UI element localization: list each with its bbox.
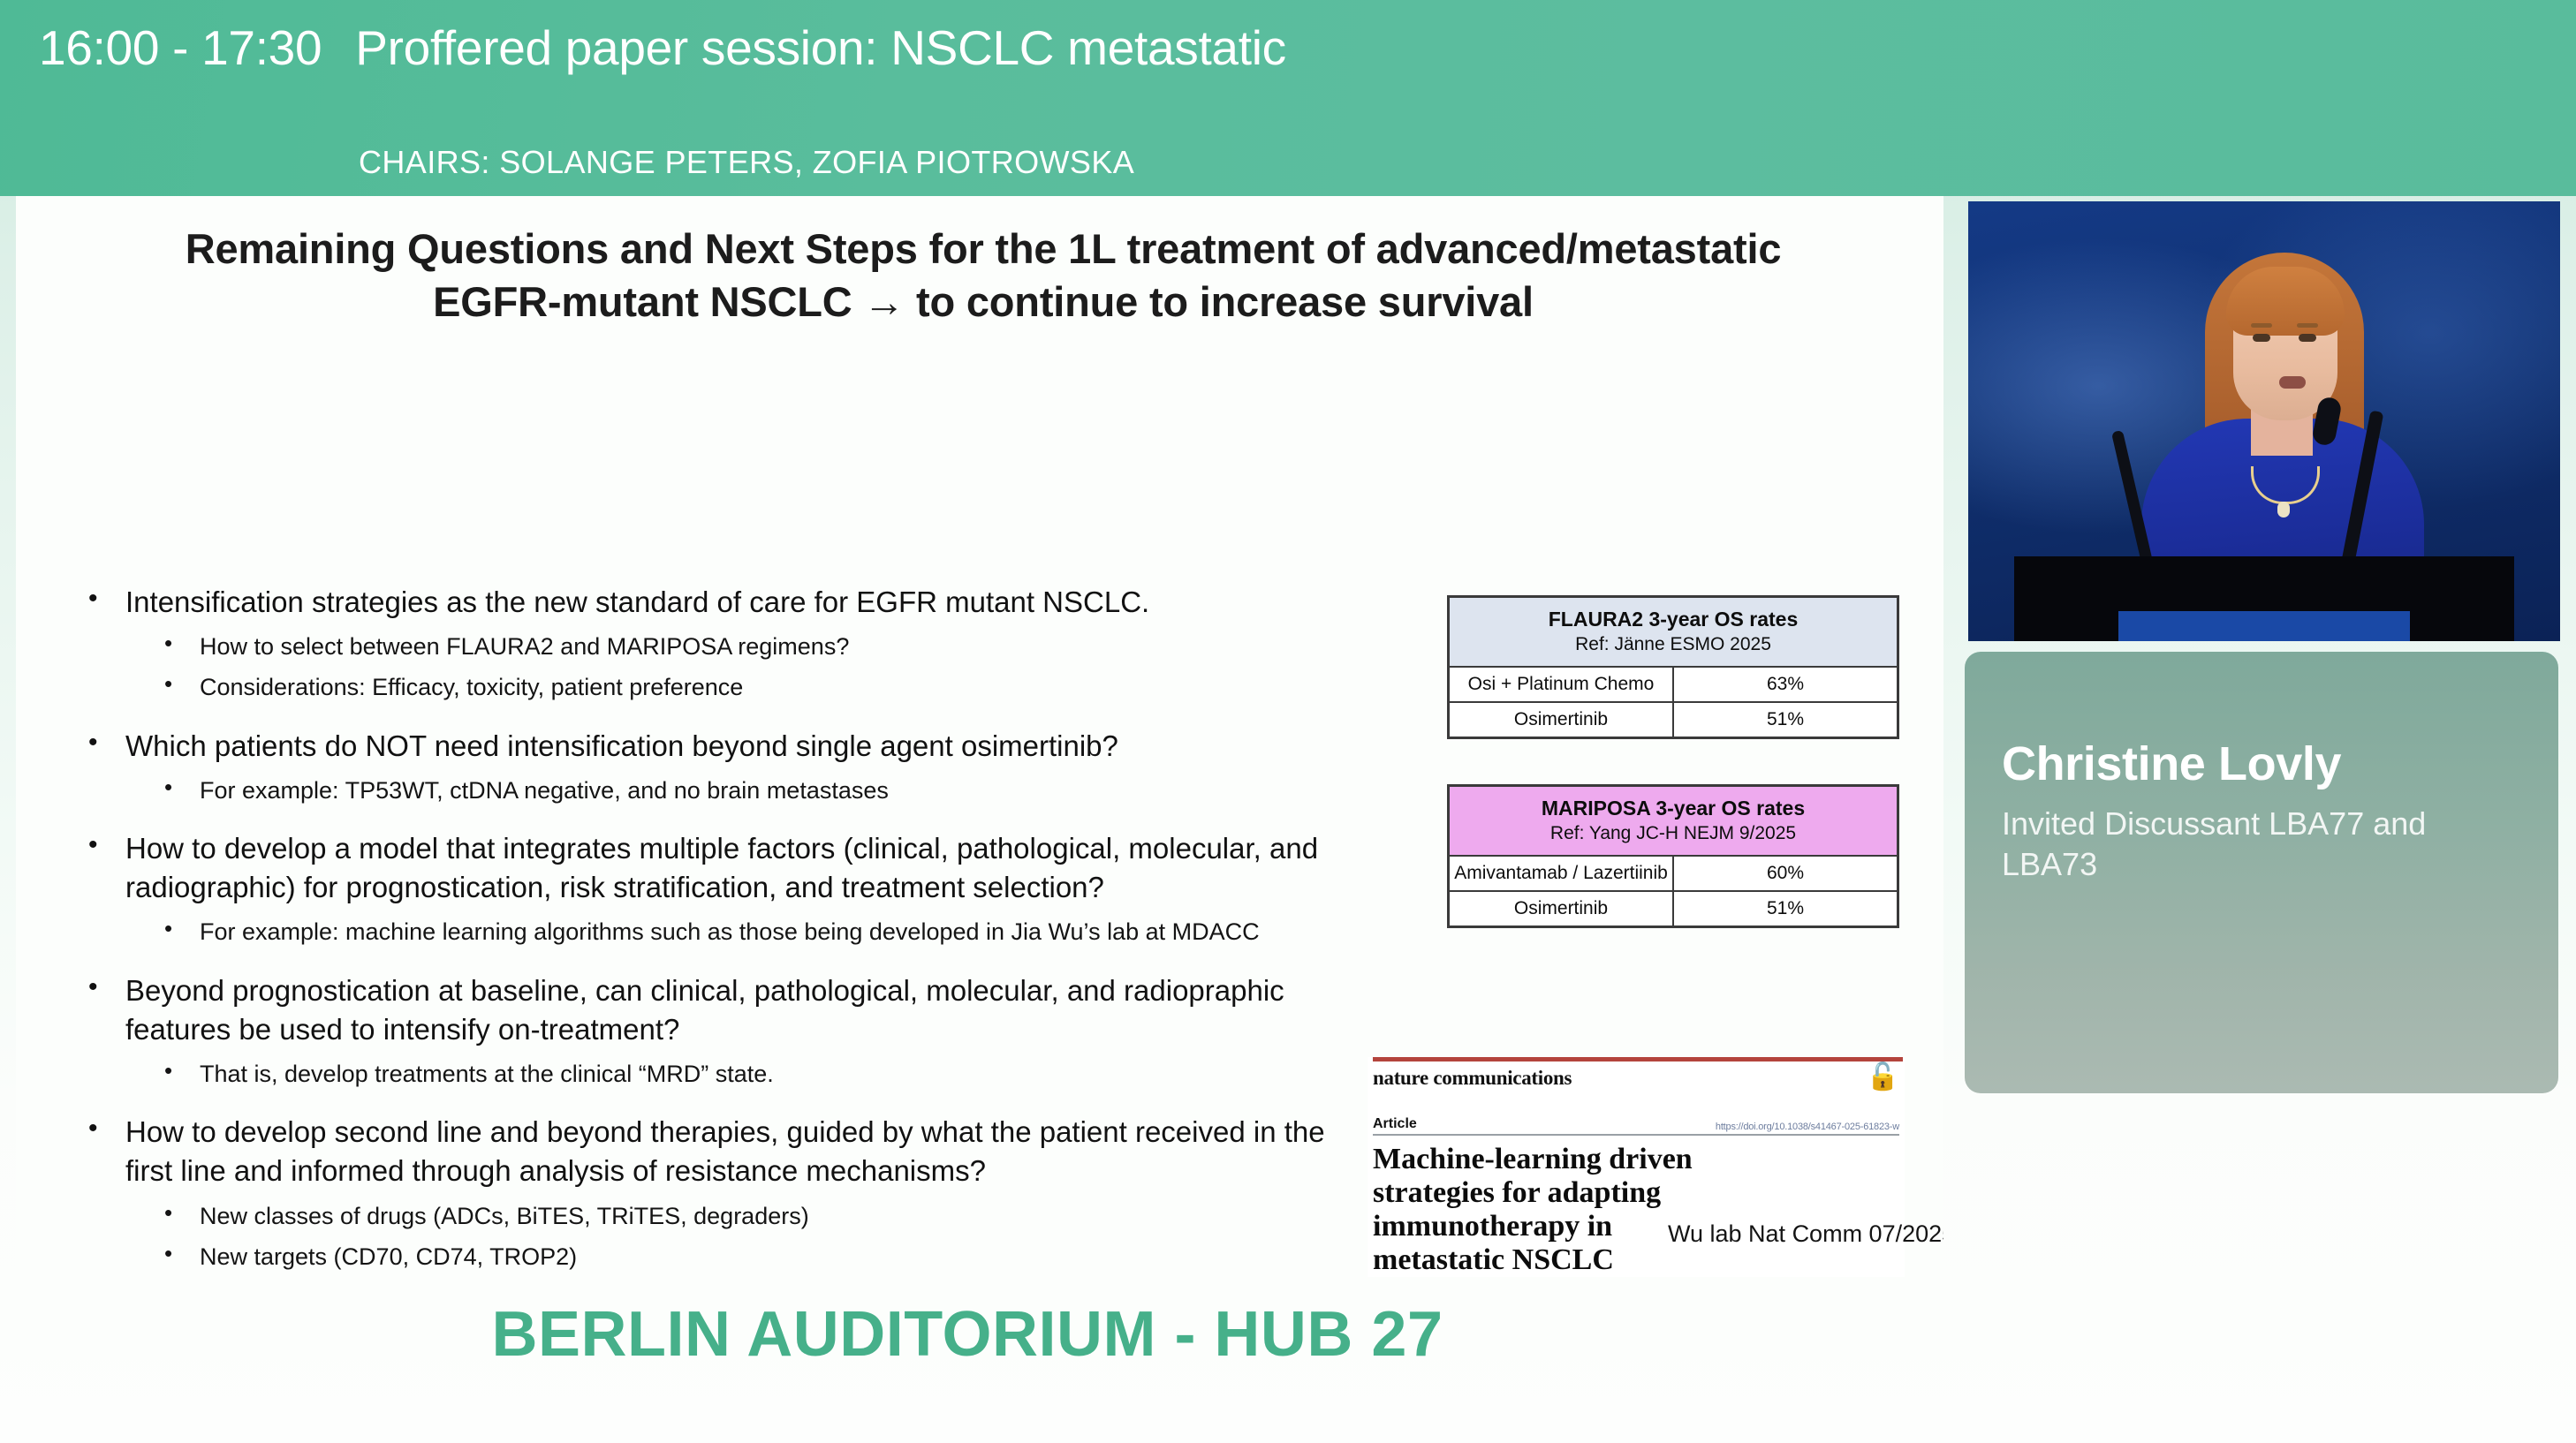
journal-article-clipping: nature communications 🔓 Article https://… — [1368, 1057, 1905, 1277]
session-header-band: 16:00 - 17:30 Proffered paper session: N… — [0, 0, 2576, 196]
speaker-eye-left — [2253, 334, 2270, 342]
speaker-role: Invited Discussant LBA77 and LBA73 — [2002, 804, 2514, 885]
table-header-cell: FLAURA2 3-year OS rates Ref: Jänne ESMO … — [1449, 597, 1898, 668]
slide-title-line-1: Remaining Questions and Next Steps for t… — [186, 225, 1782, 272]
bullet-sub: New classes of drugs (ADCs, BiTES, TRiTE… — [76, 1200, 1339, 1232]
broadcast-screen: 16:00 - 17:30 Proffered paper session: N… — [0, 0, 2576, 1443]
table-cell-rate: 60% — [1673, 856, 1898, 891]
venue-banner: BERLIN AUDITORIUM - HUB 27 — [0, 1298, 1935, 1371]
table-header-title: MARIPOSA 3-year OS rates — [1542, 797, 1805, 820]
mariposa-os-table: MARIPOSA 3-year OS rates Ref: Yang JC-H … — [1447, 784, 1899, 928]
bullet-sub: How to select between FLAURA2 and MARIPO… — [76, 631, 1339, 662]
table-cell-arm: Osimertinib — [1449, 891, 1674, 927]
speaker-pendant — [2277, 502, 2290, 518]
bullet-sub: For example: machine learning algorithms… — [76, 916, 1339, 948]
open-access-icon: 🔓 — [1867, 1064, 1899, 1091]
table-cell-arm: Amivantamab / Lazertiinib — [1449, 856, 1674, 891]
journal-doi-link[interactable]: https://doi.org/10.1038/s41467-025-61823… — [1716, 1122, 1899, 1132]
flaura2-os-table: FLAURA2 3-year OS rates Ref: Jänne ESMO … — [1447, 595, 1899, 739]
bullet-primary: Beyond prognostication at baseline, can … — [76, 971, 1339, 1049]
table-cell-rate: 63% — [1673, 667, 1898, 702]
journal-caption: Wu lab Nat Comm 07/2025 — [1668, 1220, 1943, 1248]
journal-top-rule — [1373, 1057, 1903, 1061]
speaker-mouth — [2279, 376, 2306, 389]
bullet-primary: Intensification strategies as the new st… — [76, 583, 1339, 622]
journal-article-meta-row: Article https://doi.org/10.1038/s41467-0… — [1373, 1116, 1899, 1136]
table-header-ref: Ref: Jänne ESMO 2025 — [1453, 633, 1893, 656]
table-header-ref: Ref: Yang JC-H NEJM 9/2025 — [1453, 822, 1893, 845]
bullet-group: Beyond prognostication at baseline, can … — [76, 971, 1339, 1091]
bullet-group: How to develop second line and beyond th… — [76, 1113, 1339, 1273]
speaker-name: Christine Lovly — [2002, 737, 2341, 791]
presentation-slide[interactable]: Remaining Questions and Next Steps for t… — [16, 196, 1943, 1284]
bullet-group: Intensification strategies as the new st… — [76, 583, 1339, 704]
journal-masthead: nature communications — [1373, 1067, 1905, 1090]
table-row: Osimertinib 51% — [1449, 891, 1898, 927]
table-row: Amivantamab / Lazertiinib 60% — [1449, 856, 1898, 891]
table-header-cell: MARIPOSA 3-year OS rates Ref: Yang JC-H … — [1449, 786, 1898, 857]
podium-screen — [2118, 611, 2410, 641]
session-chairs: CHAIRS: SOLANGE PETERS, ZOFIA PIOTROWSKA — [359, 144, 1134, 181]
session-heading: 16:00 - 17:30 Proffered paper session: N… — [39, 19, 1286, 76]
speaker-eyebrow-left — [2251, 323, 2272, 328]
podium — [2014, 556, 2514, 641]
table-header-title: FLAURA2 3-year OS rates — [1549, 608, 1799, 631]
table-header-row: FLAURA2 3-year OS rates Ref: Jänne ESMO … — [1449, 597, 1898, 668]
bullet-sub: Considerations: Efficacy, toxicity, pati… — [76, 671, 1339, 703]
speaker-video-feed[interactable] — [1968, 201, 2560, 641]
table-cell-arm: Osi + Platinum Chemo — [1449, 667, 1674, 702]
session-title: Proffered paper session: NSCLC metastati… — [355, 19, 1286, 76]
table-cell-rate: 51% — [1673, 891, 1898, 927]
table-row: Osimertinib 51% — [1449, 702, 1898, 738]
table-cell-arm: Osimertinib — [1449, 702, 1674, 738]
journal-article-label: Article — [1373, 1116, 1417, 1132]
table-header-row: MARIPOSA 3-year OS rates Ref: Yang JC-H … — [1449, 786, 1898, 857]
bullet-primary: How to develop second line and beyond th… — [76, 1113, 1339, 1190]
slide-title: Remaining Questions and Next Steps for t… — [69, 223, 1898, 329]
speaker-hair-front — [2226, 267, 2345, 336]
table-row: Osi + Platinum Chemo 63% — [1449, 667, 1898, 702]
speaker-eyebrow-right — [2297, 323, 2318, 328]
journal-article-title: Machine-learning driven strategies for a… — [1373, 1143, 1744, 1277]
bullet-sub: New targets (CD70, CD74, TROP2) — [76, 1241, 1339, 1273]
bullet-sub: For example: TP53WT, ctDNA negative, and… — [76, 774, 1339, 806]
speaker-eye-right — [2299, 334, 2316, 342]
slide-title-line-2: EGFR-mutant NSCLC → to continue to incre… — [433, 278, 1534, 325]
bullet-group: Which patients do NOT need intensificati… — [76, 727, 1339, 806]
speaker-info-card: Christine Lovly Invited Discussant LBA77… — [1965, 652, 2558, 1093]
slide-bullet-list: Intensification strategies as the new st… — [76, 583, 1339, 1284]
bullet-primary: How to develop a model that integrates m… — [76, 829, 1339, 907]
bullet-sub: That is, develop treatments at the clini… — [76, 1058, 1339, 1090]
bullet-group: How to develop a model that integrates m… — [76, 829, 1339, 948]
table-cell-rate: 51% — [1673, 702, 1898, 738]
session-time: 16:00 - 17:30 — [39, 19, 322, 76]
bullet-primary: Which patients do NOT need intensificati… — [76, 727, 1339, 766]
